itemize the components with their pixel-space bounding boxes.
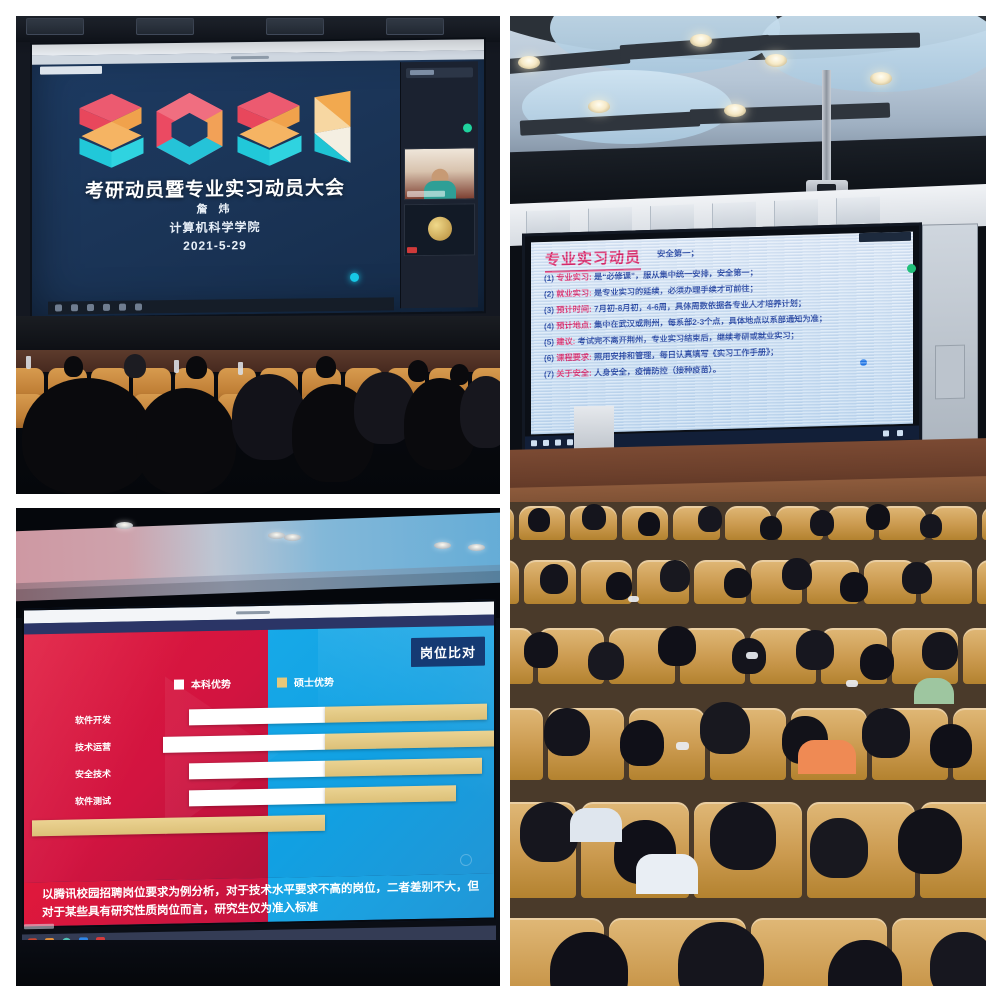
water-bottle (26, 356, 31, 369)
chart-plot-area: 软件开发技术运营安全技术软件测试技术研究 (24, 698, 494, 842)
audience-head (930, 724, 972, 768)
audience-torso (570, 808, 622, 842)
audience-torso (914, 678, 954, 704)
ceiling-light (284, 534, 301, 541)
audience-head (866, 504, 890, 530)
audience-head (64, 356, 83, 377)
seat-row (510, 506, 986, 540)
ceiling-light (434, 542, 451, 549)
bar-master (325, 730, 494, 749)
slide-heading: 专业实习动员 (545, 246, 641, 270)
photo-collage: 考研动员暨专业实习动员大会 詹 炜 计算机科学学院 2021-5-29 (0, 0, 1002, 1002)
bar-undergrad (163, 734, 325, 753)
slide-caption: 以腾讯校园招聘岗位要求为例分析，对于技术水平要求不高的岗位，二者差别不大，但对于… (24, 873, 494, 926)
status-indicator-icon (463, 123, 472, 132)
chat-icon[interactable] (119, 304, 126, 311)
audience-head (922, 632, 958, 670)
participants-icon[interactable] (103, 304, 110, 311)
chart-category-label: 软件开发 (54, 712, 132, 726)
participant-video-tile[interactable] (404, 147, 475, 200)
bar-master (325, 704, 487, 723)
caption-text: 以腾讯校园招聘岗位要求为例分析，对于技术水平要求不高的岗位，二者差别不大，但对于… (42, 881, 479, 919)
photo-panel-top-left: 考研动员暨专业实习动员大会 詹 炜 计算机科学学院 2021-5-29 (16, 16, 500, 494)
audience-head (316, 356, 336, 378)
audience-head (588, 642, 624, 680)
chart-legend: 本科优势 硕士优势 (174, 674, 334, 692)
status-icon (543, 440, 549, 446)
ceiling-light (268, 532, 285, 539)
participant-name-plate (407, 191, 445, 197)
photo-panel-bottom-left: 岗位比对 本科优势 硕士优势 软件开发技术运营安全技术软件测试技术研究 (16, 508, 500, 986)
logo-digit-two-b (232, 89, 306, 166)
taskbar-label (24, 924, 54, 930)
audience-head-foreground (460, 376, 500, 448)
bar-undergrad (189, 707, 325, 726)
ceiling-tile (26, 18, 84, 35)
chart-bar-track (148, 812, 488, 835)
audience-head-foreground (136, 388, 236, 494)
status-icon (531, 440, 537, 446)
slide-bullet-list: (1) 专业实习: 是“必修课”，服从集中统一安排，安全第一；(2) 就业实习:… (544, 264, 905, 386)
display-logo-badge (859, 232, 911, 242)
photo-panel-right: 专业实习动员 安全第一； (1) 专业实习: 是“必修课”，服从集中统一安排，安… (510, 16, 986, 986)
chart-bar-track (148, 731, 488, 754)
participant-avatar-tile[interactable] (404, 203, 475, 256)
legend-label: 硕士优势 (294, 674, 334, 690)
slide-date: 2021-5-29 (32, 236, 398, 254)
audience-head (782, 558, 812, 590)
legend-item-master: 硕士优势 (277, 674, 334, 690)
audience-head (810, 510, 834, 536)
slide-heading-tail: 安全第一； (657, 241, 903, 260)
audience-head (582, 504, 606, 530)
ceiling-light (468, 544, 485, 551)
sidebar-header (406, 67, 473, 78)
audience-head-foreground (22, 378, 152, 494)
logo-digit-one (311, 89, 357, 166)
legend-item-undergrad: 本科优势 (174, 676, 231, 692)
audience-head (862, 708, 910, 758)
meeting-participants-sidebar[interactable] (400, 61, 478, 308)
microphone-icon[interactable] (55, 304, 62, 311)
audience-head (796, 630, 834, 670)
seat (510, 560, 519, 604)
chart-bar-track (148, 785, 488, 808)
share-screen-icon[interactable] (87, 304, 94, 311)
soffit-fin (650, 204, 694, 232)
foreground-dark-area (16, 940, 500, 986)
audience-head (920, 514, 942, 538)
audience-head (698, 506, 722, 532)
audience-head (700, 702, 750, 754)
audience-head (810, 818, 868, 878)
ceiling-downlight (724, 104, 746, 117)
seat (510, 506, 514, 540)
slide-speaker-name: 詹 炜 (32, 198, 398, 218)
slide-bullet-item: (7) 关于安全: 人身安全，疫情防控（接种疫苗）。 (544, 360, 905, 380)
ceiling-downlight (690, 34, 712, 47)
wall-side-column (922, 223, 978, 474)
audience-head (540, 564, 568, 594)
water-bottle (174, 360, 179, 373)
soffit-fin (836, 196, 880, 224)
audience-head (902, 562, 932, 594)
legend-swatch-white (174, 679, 184, 689)
audience-head (710, 802, 776, 870)
audience-head (658, 626, 696, 666)
audience-head (620, 720, 664, 766)
water-bottle (238, 362, 243, 375)
bar-master (325, 785, 456, 804)
face-mask-icon (628, 596, 639, 602)
status-icon (897, 430, 903, 436)
ceiling-downlight (588, 100, 610, 113)
ceiling-beam (760, 33, 920, 51)
status-icon (883, 430, 889, 436)
face-mask-icon (846, 680, 858, 687)
bar-undergrad (189, 761, 325, 780)
bar-master (32, 815, 325, 837)
bar-undergrad (189, 788, 325, 807)
ceiling-tile (266, 18, 324, 35)
ceiling-tile (136, 18, 194, 35)
projection-screen-top-left: 考研动员暨专业实习动员大会 詹 炜 计算机科学学院 2021-5-29 (30, 37, 486, 319)
camera-icon[interactable] (71, 304, 78, 311)
indicator-light-icon (907, 264, 916, 273)
face-mask-icon (746, 652, 758, 659)
audience-head (528, 508, 550, 532)
cursor-dot (350, 273, 359, 282)
participant-name-plate (407, 247, 417, 253)
chart-bar-track (148, 704, 488, 727)
chart-title-badge: 岗位比对 (411, 637, 485, 667)
audience-head (186, 356, 207, 379)
legend-label: 本科优势 (191, 676, 231, 692)
slide-stage: 考研动员暨专业实习动员大会 詹 炜 计算机科学学院 2021-5-29 (32, 60, 398, 316)
audience-head (860, 644, 894, 680)
chart-category-label: 安全技术 (54, 766, 132, 780)
seat (977, 560, 986, 604)
ceiling-downlight (518, 56, 540, 69)
soffit-fin (712, 202, 756, 230)
audience-head (724, 568, 752, 598)
year-logo-2021 (74, 89, 357, 168)
logo-digit-zero (153, 90, 227, 167)
slide-department: 计算机科学学院 (32, 216, 398, 237)
chart-category-label: 软件测试 (54, 793, 132, 807)
seat (963, 628, 986, 684)
back-wall (16, 316, 500, 350)
soffit-fin (774, 199, 818, 227)
audience-head (660, 560, 690, 592)
audience-torso (636, 854, 698, 894)
projection-screen-bottom-left: 岗位比对 本科优势 硕士优势 软件开发技术运营安全技术软件测试技术研究 (22, 599, 496, 928)
audience-area-top-left (16, 316, 500, 494)
chart-category-label: 技术运营 (54, 739, 132, 753)
seat (510, 708, 543, 780)
audience-head (408, 360, 428, 382)
status-icon (555, 439, 561, 445)
seat (982, 506, 986, 540)
projector-mount-pole (822, 70, 831, 182)
audience-head (544, 708, 590, 756)
audience-head (898, 808, 962, 874)
bar-master (325, 758, 482, 777)
audience-head (638, 512, 660, 536)
ceiling-downlight (765, 54, 787, 67)
face-mask-icon (676, 742, 689, 750)
audience-torso (798, 740, 856, 774)
more-icon[interactable] (135, 303, 142, 310)
ceiling-tile (386, 18, 444, 35)
audience-head (524, 632, 558, 668)
audience-head (760, 516, 782, 540)
slide-internship-mobilization: 专业实习动员 安全第一； (1) 专业实习: 是“必修课”，服从集中统一安排，安… (531, 232, 913, 435)
chart-bar-track (148, 758, 488, 781)
audience-head (840, 572, 868, 602)
logo-digit-two-a (74, 91, 148, 168)
ceiling-downlight (870, 72, 892, 85)
legend-swatch-gold (277, 677, 287, 687)
status-icon (567, 439, 573, 445)
ceiling-light (116, 522, 133, 529)
audience-area-right (510, 502, 986, 986)
audience-head (124, 354, 146, 378)
